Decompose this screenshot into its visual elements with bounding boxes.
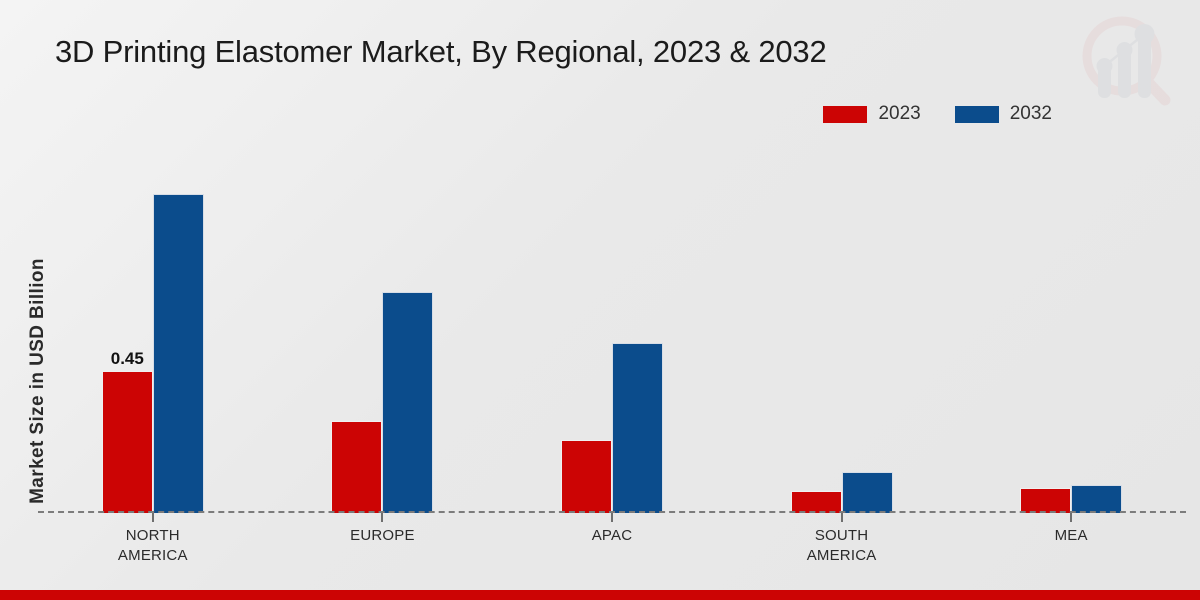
plot-area: 0.45NORTH AMERICAEUROPEAPACSOUTH AMERICA…	[38, 150, 1186, 513]
bar-group: EUROPE	[268, 150, 498, 513]
bar-value-label: 0.45	[111, 349, 144, 369]
bar-2032[interactable]	[153, 194, 204, 513]
bar-pair: 0.45	[102, 150, 204, 513]
footer-band	[0, 590, 1200, 600]
bar-2032[interactable]	[382, 292, 433, 513]
bar-group: SOUTH AMERICA	[727, 150, 957, 513]
chart-canvas: 3D Printing Elastomer Market, By Regiona…	[0, 0, 1200, 600]
bar-pair	[561, 150, 663, 513]
bar-pair	[791, 150, 893, 513]
legend-item-2032[interactable]: 2032	[955, 103, 1052, 125]
bar-2023[interactable]	[1020, 488, 1071, 513]
bar-group: MEA	[956, 150, 1186, 513]
bar-2023[interactable]	[791, 491, 842, 513]
bar-2023[interactable]	[331, 421, 382, 513]
x-axis-tick	[841, 513, 843, 522]
legend-label-2023: 2023	[878, 103, 920, 125]
bar-pair	[331, 150, 433, 513]
legend-swatch-2023	[823, 106, 867, 123]
legend-label-2032: 2032	[1010, 103, 1052, 125]
chart-title: 3D Printing Elastomer Market, By Regiona…	[55, 34, 827, 70]
bar-groups: 0.45NORTH AMERICAEUROPEAPACSOUTH AMERICA…	[38, 150, 1186, 513]
chart-legend: 2023 2032	[823, 103, 1052, 125]
bar-2032[interactable]	[612, 343, 663, 513]
legend-item-2023[interactable]: 2023	[823, 103, 920, 125]
bar-2032[interactable]	[1071, 485, 1122, 513]
bar-group: 0.45NORTH AMERICA	[38, 150, 268, 513]
bar-2032[interactable]	[842, 472, 893, 513]
x-axis-category-label: SOUTH AMERICA	[807, 526, 877, 566]
legend-swatch-2032	[955, 106, 999, 123]
x-axis-category-label: MEA	[1055, 526, 1088, 546]
bar-group: APAC	[497, 150, 727, 513]
x-axis-tick	[1070, 513, 1072, 522]
x-axis-category-label: NORTH AMERICA	[118, 526, 188, 566]
x-axis-tick	[152, 513, 154, 522]
bar-pair	[1020, 150, 1122, 513]
x-axis-tick	[381, 513, 383, 522]
bar-2023[interactable]	[561, 440, 612, 513]
x-axis-category-label: EUROPE	[350, 526, 415, 546]
x-axis-baseline	[38, 511, 1186, 513]
x-axis-tick	[611, 513, 613, 522]
watermark-logo-icon	[1070, 8, 1178, 112]
x-axis-category-label: APAC	[592, 526, 633, 546]
bar-2023[interactable]: 0.45	[102, 371, 153, 513]
